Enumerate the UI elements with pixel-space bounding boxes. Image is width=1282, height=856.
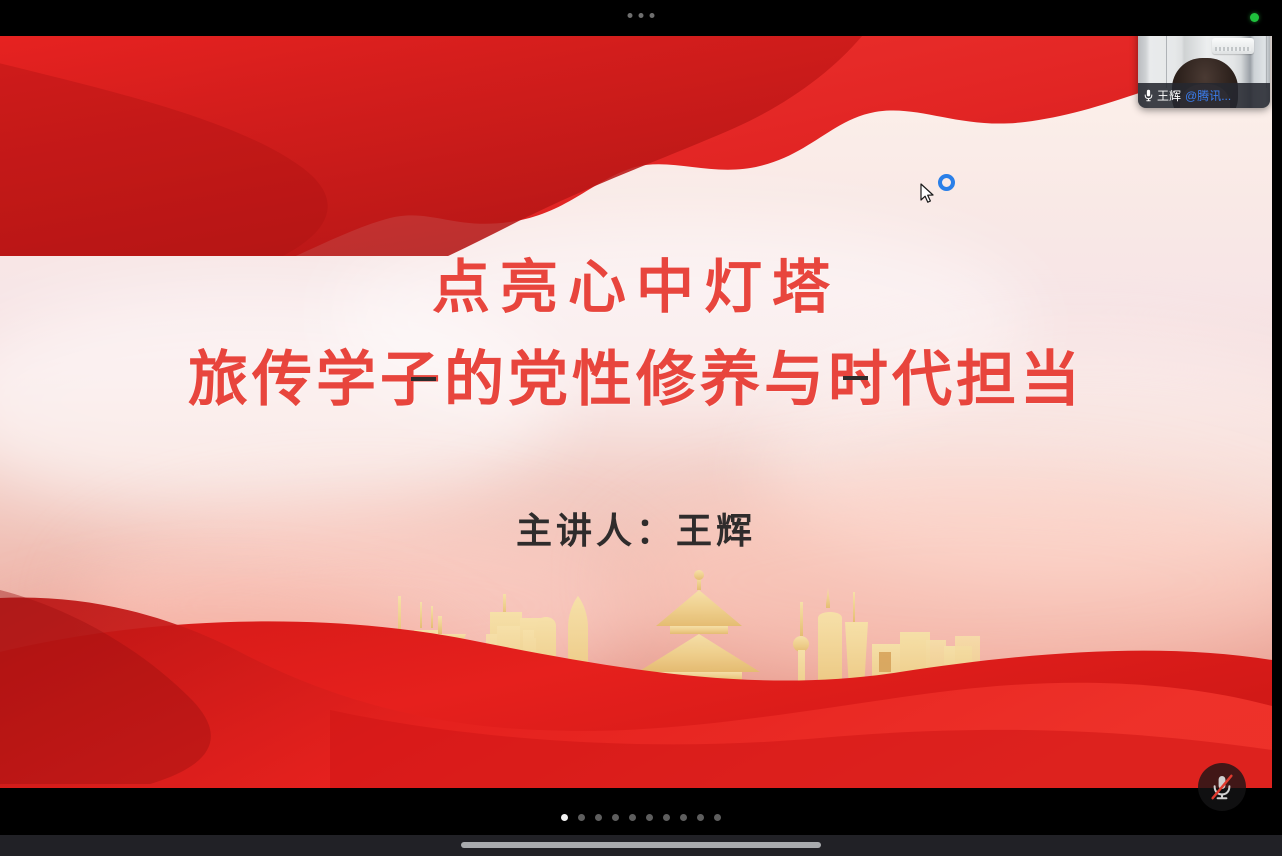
slide-dot-9[interactable] (697, 814, 704, 821)
app-window: 点亮心中灯塔 旅传学子的党性修养与时代担当 主讲人：王辉 (0, 0, 1282, 856)
slide-title: 点亮心中灯塔 (0, 240, 1272, 324)
presentation-slide[interactable]: 点亮心中灯塔 旅传学子的党性修养与时代担当 主讲人：王辉 (0, 36, 1272, 788)
busy-ring-icon (938, 174, 955, 191)
slide-dot-8[interactable] (680, 814, 687, 821)
more-options-icon[interactable] (628, 13, 655, 18)
slide-dot-6[interactable] (646, 814, 653, 821)
slide-dot-7[interactable] (663, 814, 670, 821)
participant-label: 王辉 @腾讯... (1138, 83, 1270, 108)
annotation-dash-mark (411, 377, 436, 381)
slide-text-block: 点亮心中灯塔 旅传学子的党性修养与时代担当 主讲人：王辉 (0, 36, 1272, 788)
slide-dot-4[interactable] (612, 814, 619, 821)
dot (639, 13, 644, 18)
microphone-icon (1144, 89, 1153, 102)
participant-org-text: @腾讯... (1185, 87, 1231, 104)
dot (628, 13, 633, 18)
slide-pagination (0, 814, 1282, 824)
slide-dot-3[interactable] (595, 814, 602, 821)
arrow-cursor-icon (920, 183, 936, 205)
air-conditioner (1212, 38, 1254, 54)
dot (650, 13, 655, 18)
window-top-bar (0, 0, 1282, 36)
slide-dot-10[interactable] (714, 814, 721, 821)
mute-toggle-button[interactable] (1198, 763, 1246, 811)
participant-name-text: 王辉 (1157, 87, 1181, 104)
annotation-dash-mark (843, 376, 868, 380)
mouse-pointer (920, 174, 950, 202)
horizontal-scrollbar[interactable] (0, 835, 1282, 856)
slide-dot-2[interactable] (578, 814, 585, 821)
presenter-name: 主讲人：王辉 (0, 502, 1272, 554)
slide-dot-1[interactable] (561, 814, 568, 821)
scrollbar-thumb[interactable] (461, 842, 821, 848)
slide-dot-5[interactable] (629, 814, 636, 821)
slide-subtitle: 旅传学子的党性修养与时代担当 (0, 331, 1272, 418)
recording-status-dot[interactable] (1250, 13, 1259, 22)
microphone-muted-icon (1209, 773, 1235, 801)
